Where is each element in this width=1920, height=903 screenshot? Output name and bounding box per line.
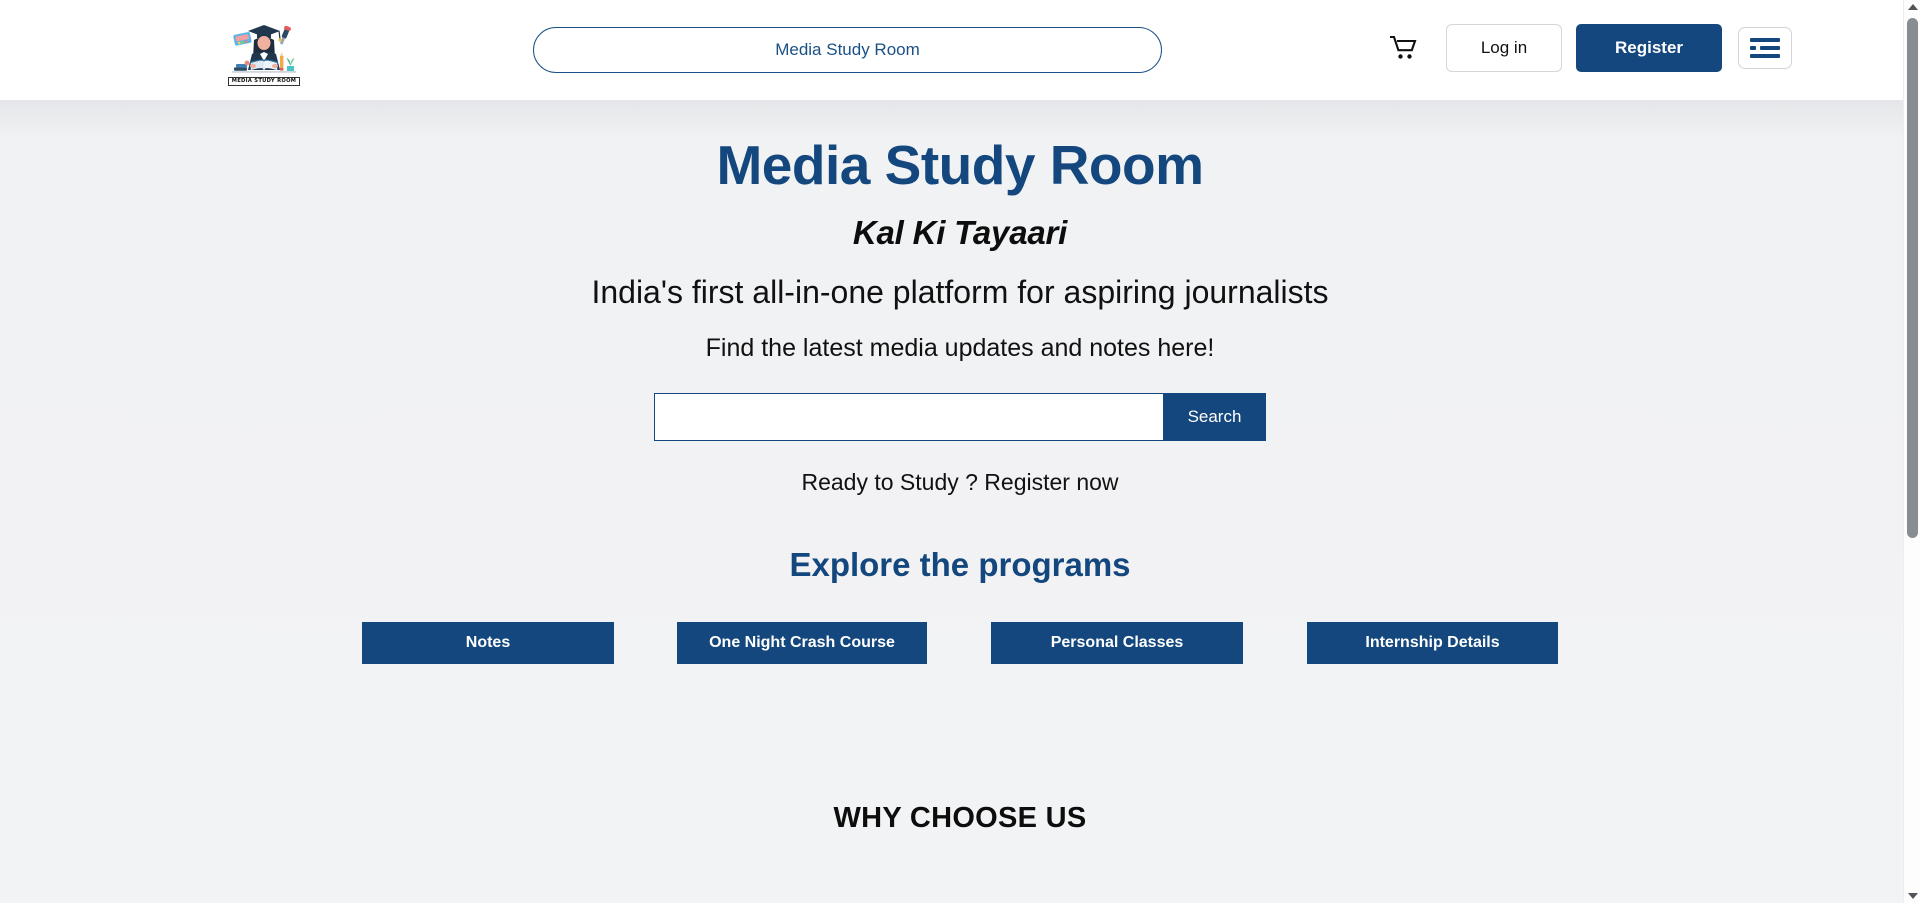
vertical-scrollbar[interactable] [1903,0,1920,903]
scroll-down-arrow-icon[interactable] [1904,889,1920,903]
login-button[interactable]: Log in [1446,24,1562,72]
site-header: MEDIA STUDY ROOM Media Study Room Log in… [0,0,1920,100]
page-viewport: MEDIA STUDY ROOM Media Study Room Log in… [0,0,1920,903]
register-button[interactable]: Register [1576,24,1722,72]
graduate-student-reading-book-logo [230,22,298,76]
header-actions: Log in Register [1384,24,1792,72]
program-buttons: Notes One Night Crash Course Personal Cl… [0,622,1920,664]
program-button-one-night-crash-course[interactable]: One Night Crash Course [677,622,927,664]
explore-programs-heading: Explore the programs [0,546,1920,584]
hamburger-menu-icon [1750,38,1780,58]
why-choose-us-heading: WHY CHOOSE US [0,802,1920,835]
shopping-cart-icon [1389,35,1419,61]
hero-subtitle: India's first all-in-one platform for as… [0,274,1920,311]
search-button[interactable]: Search [1163,393,1266,441]
brand-pill-button[interactable]: Media Study Room [533,27,1162,73]
search-input[interactable] [654,393,1163,441]
logo-caption: MEDIA STUDY ROOM [228,77,301,86]
search-bar: Search [654,393,1266,441]
hero-section: Media Study Room Kal Ki Tayaari India's … [0,100,1920,903]
hero-tagline: Kal Ki Tayaari [0,214,1920,252]
register-label: Register [1615,38,1683,58]
hero-note: Find the latest media updates and notes … [0,334,1920,363]
site-logo[interactable]: MEDIA STUDY ROOM [228,14,300,86]
program-button-internship-details[interactable]: Internship Details [1307,622,1558,664]
scrollbar-thumb[interactable] [1907,18,1918,538]
scroll-up-arrow-icon[interactable] [1904,0,1920,14]
register-cta-text[interactable]: Ready to Study ? Register now [0,469,1920,496]
search-row: Search [0,393,1920,441]
login-label: Log in [1481,38,1527,58]
cart-button[interactable] [1384,30,1424,66]
page-title: Media Study Room [0,100,1920,196]
program-button-personal-classes[interactable]: Personal Classes [991,622,1243,664]
program-button-notes[interactable]: Notes [362,622,614,664]
brand-pill-label: Media Study Room [775,40,920,60]
menu-button[interactable] [1738,27,1792,69]
